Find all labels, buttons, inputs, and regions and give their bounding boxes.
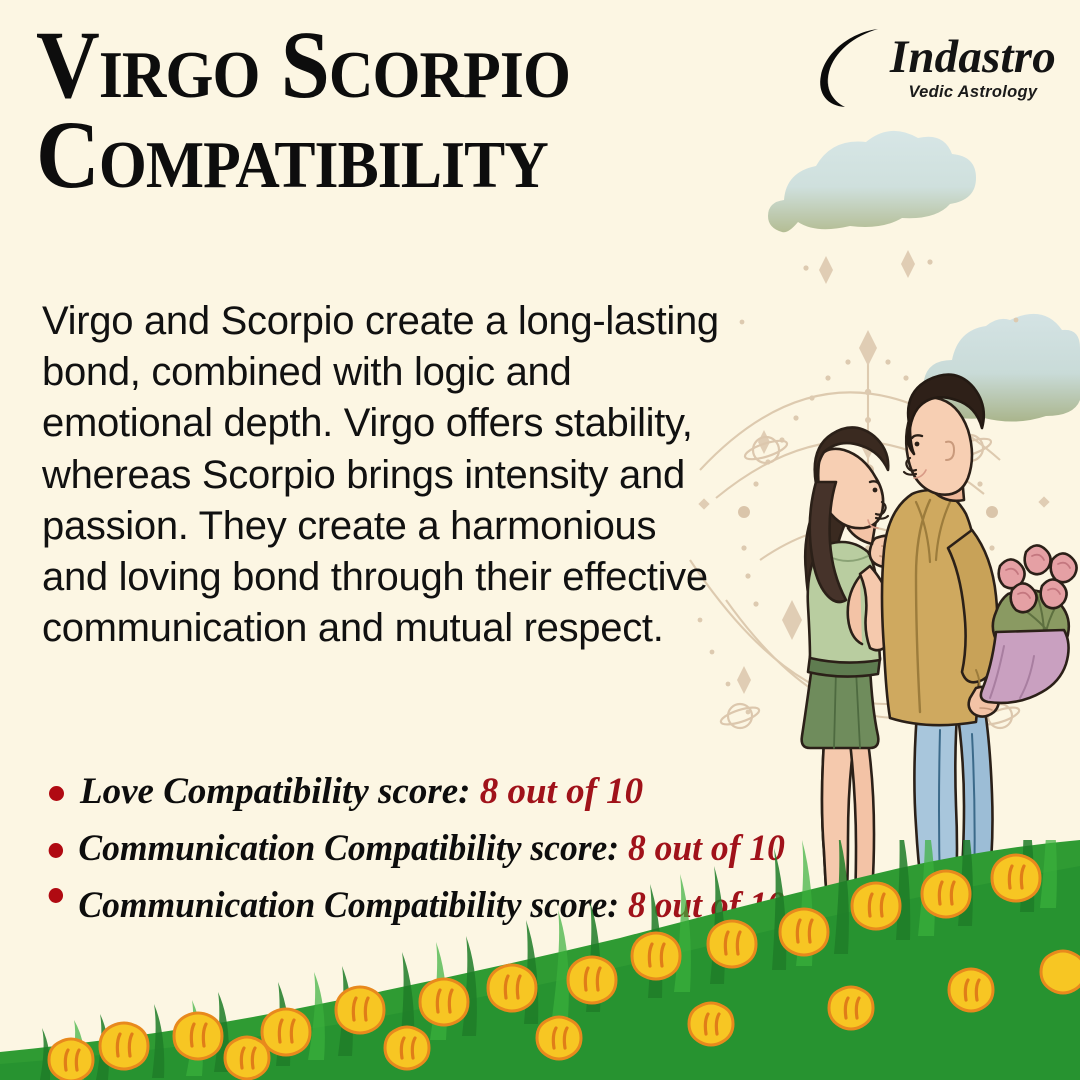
list-item: Love Compatibility score: 8 out of 10 [40, 770, 830, 813]
title-line-1: Virgo Scorpio [36, 20, 643, 110]
description-paragraph: Virgo and Scorpio create a long-lasting … [42, 296, 722, 654]
brand-logo[interactable]: Indastro Vedic Astrology [812, 26, 1056, 110]
score-value: 8 out of 10 [480, 771, 643, 812]
brand-tagline: Vedic Astrology [908, 83, 1037, 102]
tulip-meadow-illustration [0, 840, 1080, 1080]
poster-canvas: Indastro Vedic Astrology Virgo Scorpio C… [0, 0, 1080, 1080]
bullet-dot-icon [49, 786, 64, 801]
title-line-2: Compatibility [36, 110, 643, 200]
score-label: Love Compatibility score: [80, 771, 470, 812]
page-title: Virgo Scorpio Compatibility [36, 20, 643, 200]
crescent-moon-icon [812, 26, 890, 110]
brand-name: Indastro [890, 34, 1056, 82]
cloud-shape-1 [768, 131, 976, 232]
